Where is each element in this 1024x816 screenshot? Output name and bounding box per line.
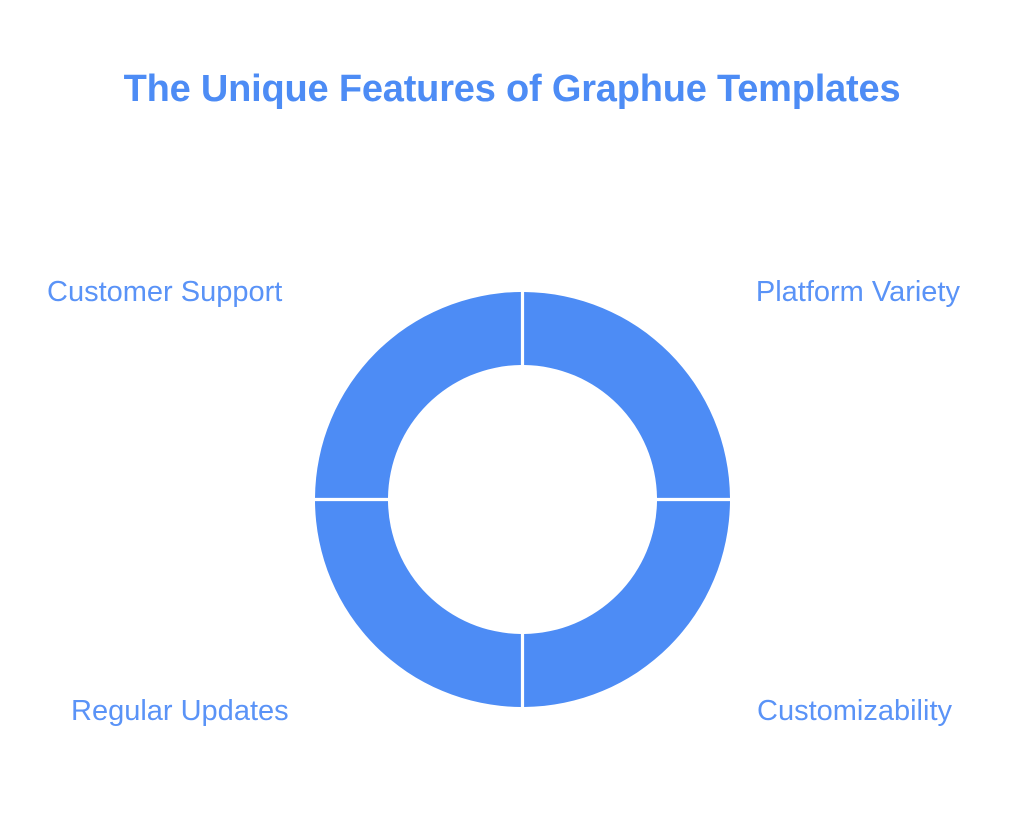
donut-slice-customizability[interactable] — [524, 501, 730, 707]
chart-label-regular-updates: Regular Updates — [71, 697, 289, 726]
donut-slice-platform-variety[interactable] — [524, 292, 730, 498]
infographic-canvas: The Unique Features of Graphue Templates… — [0, 0, 1024, 816]
chart-label-customizability: Customizability — [757, 697, 952, 726]
donut-slice-regular-updates[interactable] — [315, 501, 521, 707]
donut-chart-icon — [314, 291, 731, 708]
chart-label-platform-variety: Platform Variety — [756, 278, 960, 307]
page-title: The Unique Features of Graphue Templates — [0, 68, 1024, 111]
chart-label-customer-support: Customer Support — [47, 278, 282, 307]
donut-chart — [314, 291, 731, 708]
donut-slice-customer-support[interactable] — [315, 292, 521, 498]
